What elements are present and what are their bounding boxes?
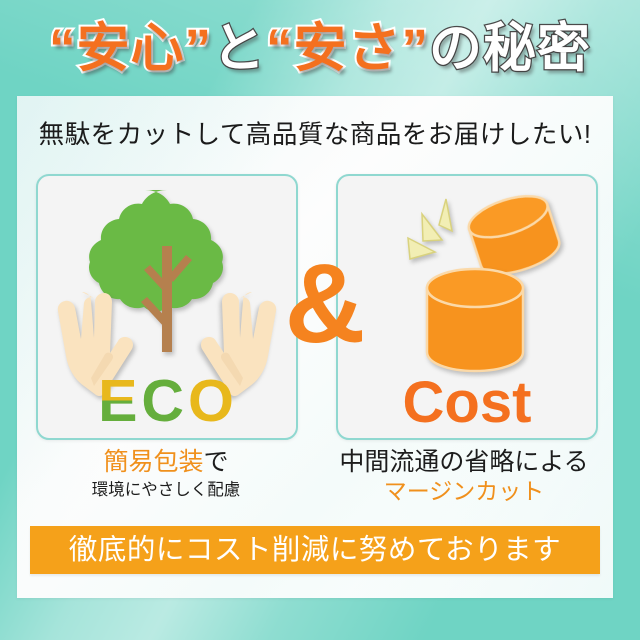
caption-cost-highlight: マージンカット	[319, 478, 609, 505]
page-title: “安心”と“安さ”の秘密	[0, 8, 640, 88]
title-part-to: と	[212, 19, 266, 78]
ampersand-connector: &	[293, 234, 357, 374]
sparkle-icon	[408, 199, 452, 259]
title-part-yasusa: “安さ”	[266, 19, 429, 78]
cylinder-icon	[427, 269, 523, 371]
eco-letter-o: O	[188, 372, 236, 431]
caption-eco-highlight: 簡易包装	[103, 448, 203, 476]
title-part-himitsu: の秘密	[429, 19, 591, 78]
caption-cost: 中間流通の省略による マージンカット	[319, 448, 609, 505]
caption-eco-sub: 環境にやさしく配慮	[21, 480, 311, 501]
cost-label: Cost	[338, 370, 596, 436]
caption-eco: 簡易包装で 環境にやさしく配慮	[21, 448, 311, 501]
panel-captions: 簡易包装で 環境にやさしく配慮 中間流通の省略による マージンカット	[17, 448, 613, 520]
infographic-stage: “安心”と“安さ”の秘密 無駄をカットして高品質な商品をお届けしたい!	[0, 0, 640, 640]
feature-panels: ECO &	[17, 174, 613, 442]
panel-cost[interactable]: Cost	[336, 174, 598, 440]
cylinder-lid-icon	[464, 188, 564, 282]
caption-cost-main: 中間流通の省略による	[319, 448, 609, 478]
eco-label: ECO	[38, 370, 296, 432]
caption-eco-suffix: で	[204, 448, 229, 476]
title-part-anshin: “安心”	[49, 19, 212, 78]
bottom-banner: 徹底的にコスト削減に努めております	[30, 526, 600, 574]
eco-letter-e: E	[98, 372, 139, 431]
content-card: 無駄をカットして高品質な商品をお届けしたい!	[17, 96, 613, 598]
bottom-banner-text: 徹底的にコスト削減に努めております	[69, 536, 561, 565]
eco-letter-c: C	[141, 372, 186, 431]
panel-eco[interactable]: ECO	[36, 174, 298, 440]
card-subtitle: 無駄をカットして高品質な商品をお届けしたい!	[17, 114, 613, 151]
